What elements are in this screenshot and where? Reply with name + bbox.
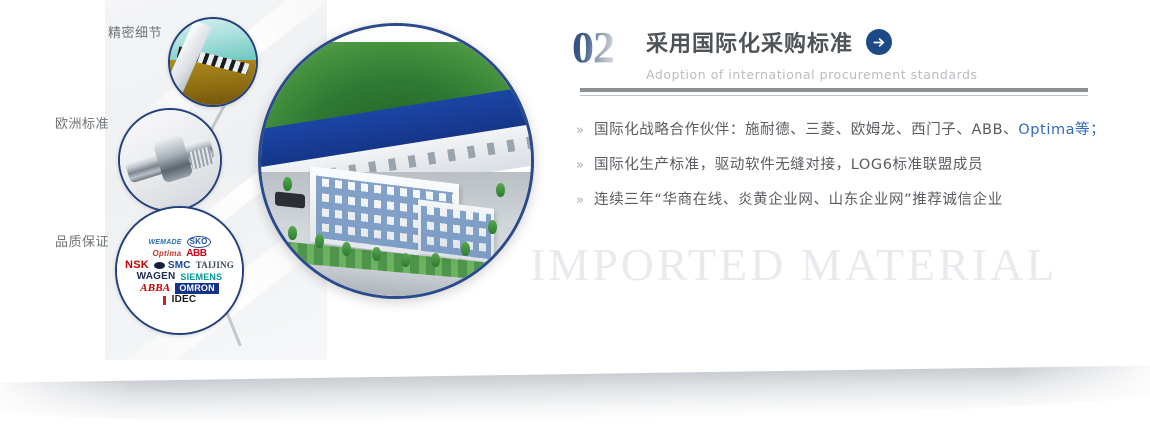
section-heading: 02 采用国际化采购标准 Adoption of international p… bbox=[572, 26, 978, 82]
gear-macro-photo bbox=[168, 17, 258, 107]
logo-row: IDEC bbox=[163, 295, 197, 305]
tree bbox=[288, 226, 297, 240]
bottom-shadow-band bbox=[0, 360, 1150, 430]
left-image-composition: 精密细节 欧洲标准 品质保证 WEMADE SKO Optima ABB bbox=[0, 0, 540, 400]
bullet-text-plain: 国际化战略合作伙伴：施耐德、三菱、欧姆龙、西门子、ABB、 bbox=[594, 122, 1018, 138]
tree bbox=[372, 247, 381, 261]
office-building-annex bbox=[418, 200, 494, 263]
page-title: 采用国际化采购标准 bbox=[646, 26, 853, 58]
section-number: 02 bbox=[572, 26, 616, 70]
section-title-block: 采用国际化采购标准 Adoption of international proc… bbox=[646, 26, 978, 82]
ball-screw-photo bbox=[118, 108, 222, 212]
list-item: » 连续三年“华商在线、炎黄企业网、山东企业网”推荐诚信企业 bbox=[576, 188, 1105, 209]
list-item: » 国际化战略合作伙伴：施耐德、三菱、欧姆龙、西门子、ABB、Optima等； bbox=[576, 118, 1105, 139]
logo-wagen: WAGEN bbox=[137, 272, 176, 282]
factory-building-photo bbox=[258, 23, 534, 299]
bullet-text-plain: 国际化生产标准，驱动软件无缝对接，LOG6标准联盟成员 bbox=[594, 157, 983, 173]
tree bbox=[496, 183, 505, 197]
tree bbox=[431, 253, 440, 267]
idec-bar-icon bbox=[163, 296, 166, 305]
divider-thin-rule bbox=[580, 95, 1088, 96]
tree bbox=[342, 242, 351, 256]
watermark-text: IMPORTED MATERIAL bbox=[530, 238, 1057, 291]
logo-wemade: WEMADE bbox=[148, 239, 181, 246]
logo-siemens: SIEMENS bbox=[180, 273, 222, 282]
logo-nsk: NSK bbox=[125, 260, 149, 271]
label-european-standard: 欧洲标准 bbox=[55, 113, 109, 132]
logo-row: Optima ABB bbox=[153, 249, 207, 259]
bullet-text-plain: 连续三年“华商在线、炎黄企业网、山东企业网”推荐诚信企业 bbox=[594, 192, 1003, 208]
right-content-panel: 02 采用国际化采购标准 Adoption of international p… bbox=[572, 0, 1132, 400]
band-fade-overlay bbox=[0, 360, 1150, 430]
brand-logos-collage: WEMADE SKO Optima ABB NSK SMC TAIJING WA… bbox=[115, 206, 244, 335]
bullet-text: 国际化战略合作伙伴：施耐德、三菱、欧姆龙、西门子、ABB、Optima等； bbox=[594, 118, 1105, 139]
logo-row: WAGEN SIEMENS bbox=[137, 272, 223, 282]
tree bbox=[401, 253, 410, 267]
tree bbox=[283, 177, 292, 191]
logo-idec: IDEC bbox=[172, 295, 197, 305]
smc-dot-icon bbox=[154, 262, 165, 269]
header-divider bbox=[580, 88, 1088, 96]
label-quality-assurance: 品质保证 bbox=[55, 231, 109, 250]
bullet-marker-icon: » bbox=[576, 193, 594, 208]
feature-bullet-list: » 国际化战略合作伙伴：施耐德、三菱、欧姆龙、西门子、ABB、Optima等； … bbox=[576, 118, 1105, 223]
bullet-text-highlight: Optima等； bbox=[1018, 122, 1105, 138]
logo-omron: OMRON bbox=[175, 283, 219, 294]
bullet-text: 国际化生产标准，驱动软件无缝对接，LOG6标准联盟成员 bbox=[594, 153, 983, 174]
list-item: » 国际化生产标准，驱动软件无缝对接，LOG6标准联盟成员 bbox=[576, 153, 1105, 174]
logo-sko: SKO bbox=[187, 236, 211, 248]
tree bbox=[488, 220, 497, 234]
logo-abb: ABB bbox=[186, 249, 206, 259]
logo-smc: SMC bbox=[168, 261, 191, 271]
logo-abba: ABBA bbox=[140, 283, 170, 294]
logo-row: NSK SMC TAIJING bbox=[125, 260, 234, 271]
section-subtitle: Adoption of international procurement st… bbox=[646, 67, 978, 82]
bullet-marker-icon: » bbox=[576, 123, 594, 138]
logo-taijing: TAIJING bbox=[196, 261, 234, 270]
logo-optima: Optima bbox=[153, 250, 182, 258]
logo-row: WEMADE SKO bbox=[148, 236, 210, 248]
arrow-right-icon[interactable] bbox=[866, 29, 892, 55]
tree bbox=[315, 234, 324, 248]
divider-thick-rule bbox=[580, 88, 1088, 92]
tree bbox=[461, 242, 470, 256]
bullet-marker-icon: » bbox=[576, 158, 594, 173]
office-annex-windows bbox=[421, 206, 491, 259]
logo-row: ABBA OMRON bbox=[140, 283, 219, 294]
label-precision-detail: 精密细节 bbox=[108, 22, 162, 41]
bullet-text: 连续三年“华商在线、炎黄企业网、山东企业网”推荐诚信企业 bbox=[594, 188, 1003, 209]
